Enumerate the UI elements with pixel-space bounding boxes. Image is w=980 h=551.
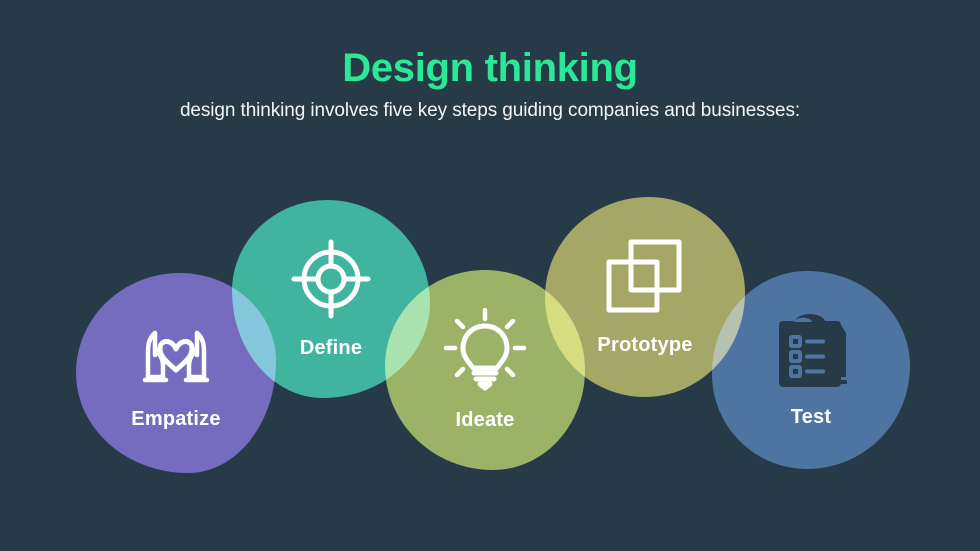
page-title: Design thinking [0, 48, 980, 88]
target-crosshair-icon [290, 238, 372, 325]
step-empatize-label: Empatize [131, 408, 220, 431]
slide-header: Design thinking design thinking involves… [0, 0, 980, 122]
step-prototype-label: Prototype [597, 334, 692, 357]
process-diagram: Empatize Define [0, 175, 980, 475]
step-define-content: Define [290, 238, 372, 360]
step-ideate-content: Ideate [443, 308, 527, 432]
overlapping-squares-icon [603, 237, 687, 322]
step-test[interactable]: Test [712, 271, 910, 469]
lightbulb-icon [443, 308, 527, 397]
step-prototype-content: Prototype [597, 237, 692, 357]
page-subtitle: design thinking involves five key steps … [0, 101, 980, 122]
step-define-label: Define [300, 337, 362, 360]
hands-heart-icon [128, 315, 224, 396]
step-ideate-label: Ideate [455, 409, 514, 432]
step-test-label: Test [791, 406, 831, 429]
step-empatize-content: Empatize [128, 315, 224, 431]
step-test-content: Test [769, 311, 853, 429]
clipboard-pencil-icon [769, 311, 853, 394]
slide-canvas: Design thinking design thinking involves… [0, 0, 980, 551]
